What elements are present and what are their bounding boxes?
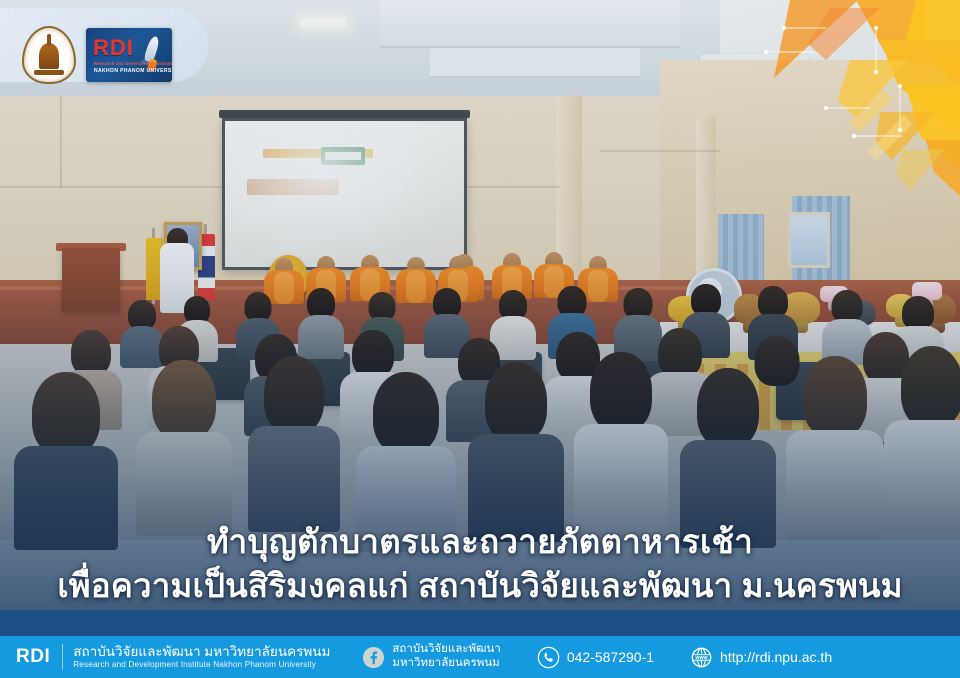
audience-person xyxy=(468,362,564,534)
rdi-logo-text: RDI xyxy=(93,37,134,59)
footer-phone-number: 042-587290-1 xyxy=(567,649,654,665)
footer-phone[interactable]: 042-587290-1 xyxy=(537,646,654,669)
logo-bar: RDI Research and Development Institute N… xyxy=(0,8,208,82)
footer-facebook[interactable]: สถาบันวิจัยและพัฒนา มหาวิทยาลัยนครพนม xyxy=(362,643,500,671)
footer-facebook-line2: มหาวิทยาลัยนครพนม xyxy=(392,657,500,671)
rdi-logo: RDI Research and Development Institute N… xyxy=(86,28,172,82)
globe-www-icon: www xyxy=(690,646,713,669)
footer-org-en: Research and Development Institute Nakho… xyxy=(73,660,330,670)
svg-text:www: www xyxy=(695,654,709,660)
footer-website[interactable]: www http://rdi.npu.ac.th xyxy=(690,646,832,669)
phone-icon xyxy=(537,646,560,669)
ceiling-panel xyxy=(430,48,640,78)
rdi-logo-subtitle-en: Research and Development Institute xyxy=(94,61,172,66)
footer-strip xyxy=(0,610,960,636)
footer-org: สถาบันวิจัยและพัฒนา มหาวิทยาลัยนครพนม Re… xyxy=(73,644,330,670)
footer-bar: RDI สถาบันวิจัยและพัฒนา มหาวิทยาลัยนครพน… xyxy=(0,636,960,678)
audience-person xyxy=(248,356,340,524)
audience-person xyxy=(884,346,960,530)
rdi-logo-university-en: NAKHON PHANOM UNIVERSITY xyxy=(94,68,172,74)
audience-person xyxy=(136,360,232,528)
poster-root: RDI Research and Development Institute N… xyxy=(0,0,960,678)
projector-screen-bar xyxy=(219,110,470,118)
facebook-icon xyxy=(362,646,385,669)
wall-seam xyxy=(60,96,62,188)
window xyxy=(788,212,830,268)
footer-website-url: http://rdi.npu.ac.th xyxy=(720,649,832,665)
footer-facebook-text: สถาบันวิจัยและพัฒนา มหาวิทยาลัยนครพนม xyxy=(392,643,500,671)
audience-person xyxy=(786,356,884,534)
audience-person xyxy=(680,368,776,542)
footer-rdi-mark: RDI xyxy=(16,646,50,668)
audience-person xyxy=(574,352,668,528)
audience-person xyxy=(356,372,456,544)
ceiling-light xyxy=(300,18,346,27)
poster-title: ทำบุญตักบาตรและถวายภัตตาหารเช้า เพื่อควา… xyxy=(0,522,960,607)
npu-royal-seal-icon xyxy=(22,26,76,84)
footer-facebook-line1: สถาบันวิจัยและพัฒนา xyxy=(392,643,500,657)
audience-person xyxy=(14,372,118,542)
wall-seam xyxy=(600,150,720,152)
footer-org-th: สถาบันวิจัยและพัฒนา มหาวิทยาลัยนครพนม xyxy=(73,644,330,660)
footer-divider xyxy=(62,644,63,670)
lectern xyxy=(62,248,120,312)
projector-screen xyxy=(222,118,467,270)
ceiling-panel xyxy=(380,0,680,48)
title-line-1: ทำบุญตักบาตรและถวายภัตตาหารเช้า xyxy=(14,522,946,562)
title-line-2: เพื่อความเป็นสิริมงคลแก่ สถาบันวิจัยและพ… xyxy=(14,566,946,606)
screen-glare xyxy=(225,121,464,267)
